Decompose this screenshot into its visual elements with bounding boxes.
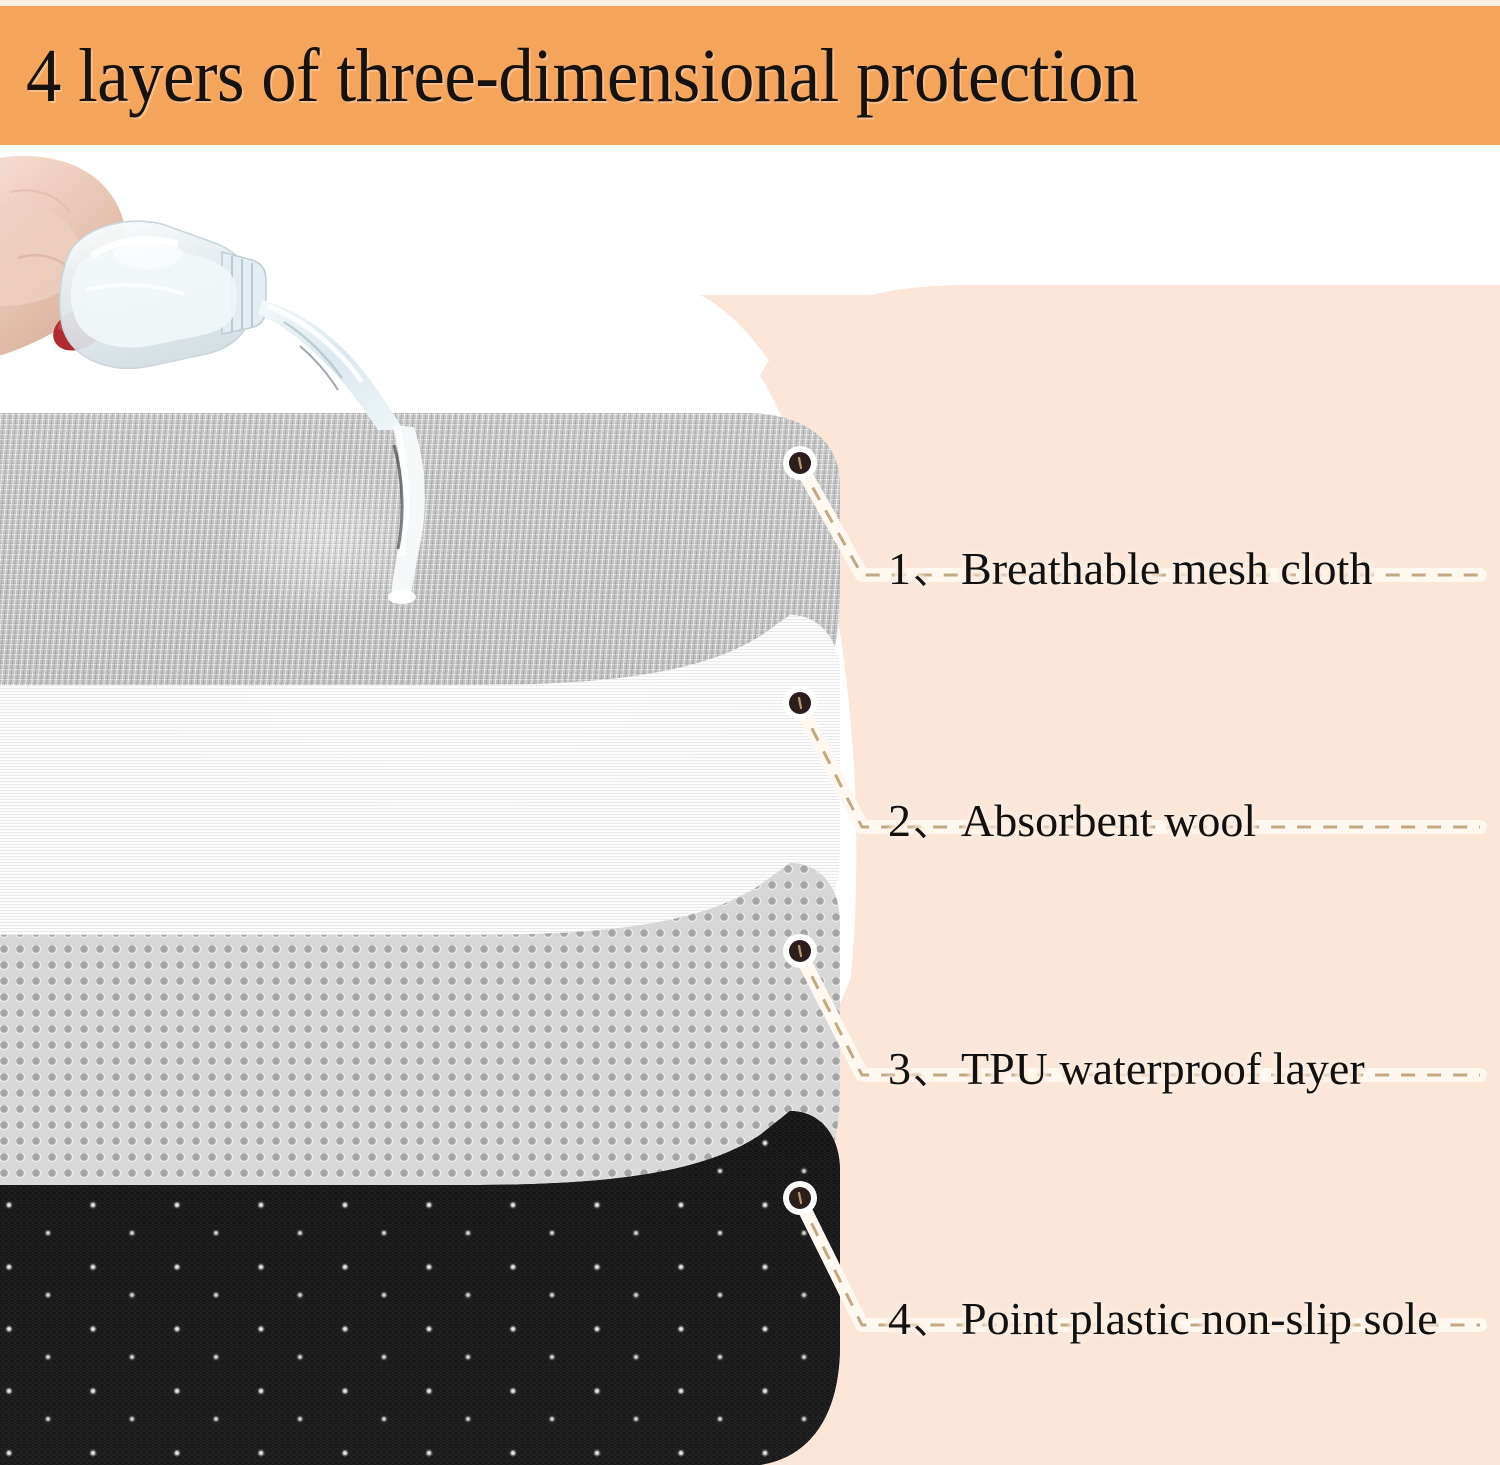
water-stream (258, 300, 404, 430)
callout-separator-3: 、 (911, 1051, 961, 1093)
page-title: 4 layers of three-dimensional protection (26, 38, 1138, 114)
callout-label-4: 4、Point plastic non-slip sole (888, 1296, 1438, 1342)
callout-index-3: 3 (888, 1043, 911, 1094)
header-banner: 4 layers of three-dimensional protection (0, 6, 1500, 145)
callout-label-3: 3、TPU waterproof layer (888, 1046, 1365, 1092)
callout-text-2: Absorbent wool (961, 795, 1256, 846)
callout-text-1: Breathable mesh cloth (961, 543, 1372, 594)
callout-label-1: 1、Breathable mesh cloth (888, 546, 1372, 592)
callout-text-3: TPU waterproof layer (961, 1043, 1365, 1094)
callout-separator-1: 、 (911, 551, 961, 593)
callout-index-4: 4 (888, 1293, 911, 1344)
callout-index-2: 2 (888, 795, 911, 846)
callout-index-1: 1 (888, 543, 911, 594)
callout-label-2: 2、Absorbent wool (888, 798, 1256, 844)
callout-text-4: Point plastic non-slip sole (961, 1293, 1438, 1344)
hand-pouring-water-photo (0, 150, 470, 430)
callout-separator-2: 、 (911, 803, 961, 845)
infographic-page: 4 layers of three-dimensional protection (0, 0, 1500, 1465)
water-bottle (60, 221, 266, 368)
callout-separator-4: 、 (911, 1301, 961, 1343)
